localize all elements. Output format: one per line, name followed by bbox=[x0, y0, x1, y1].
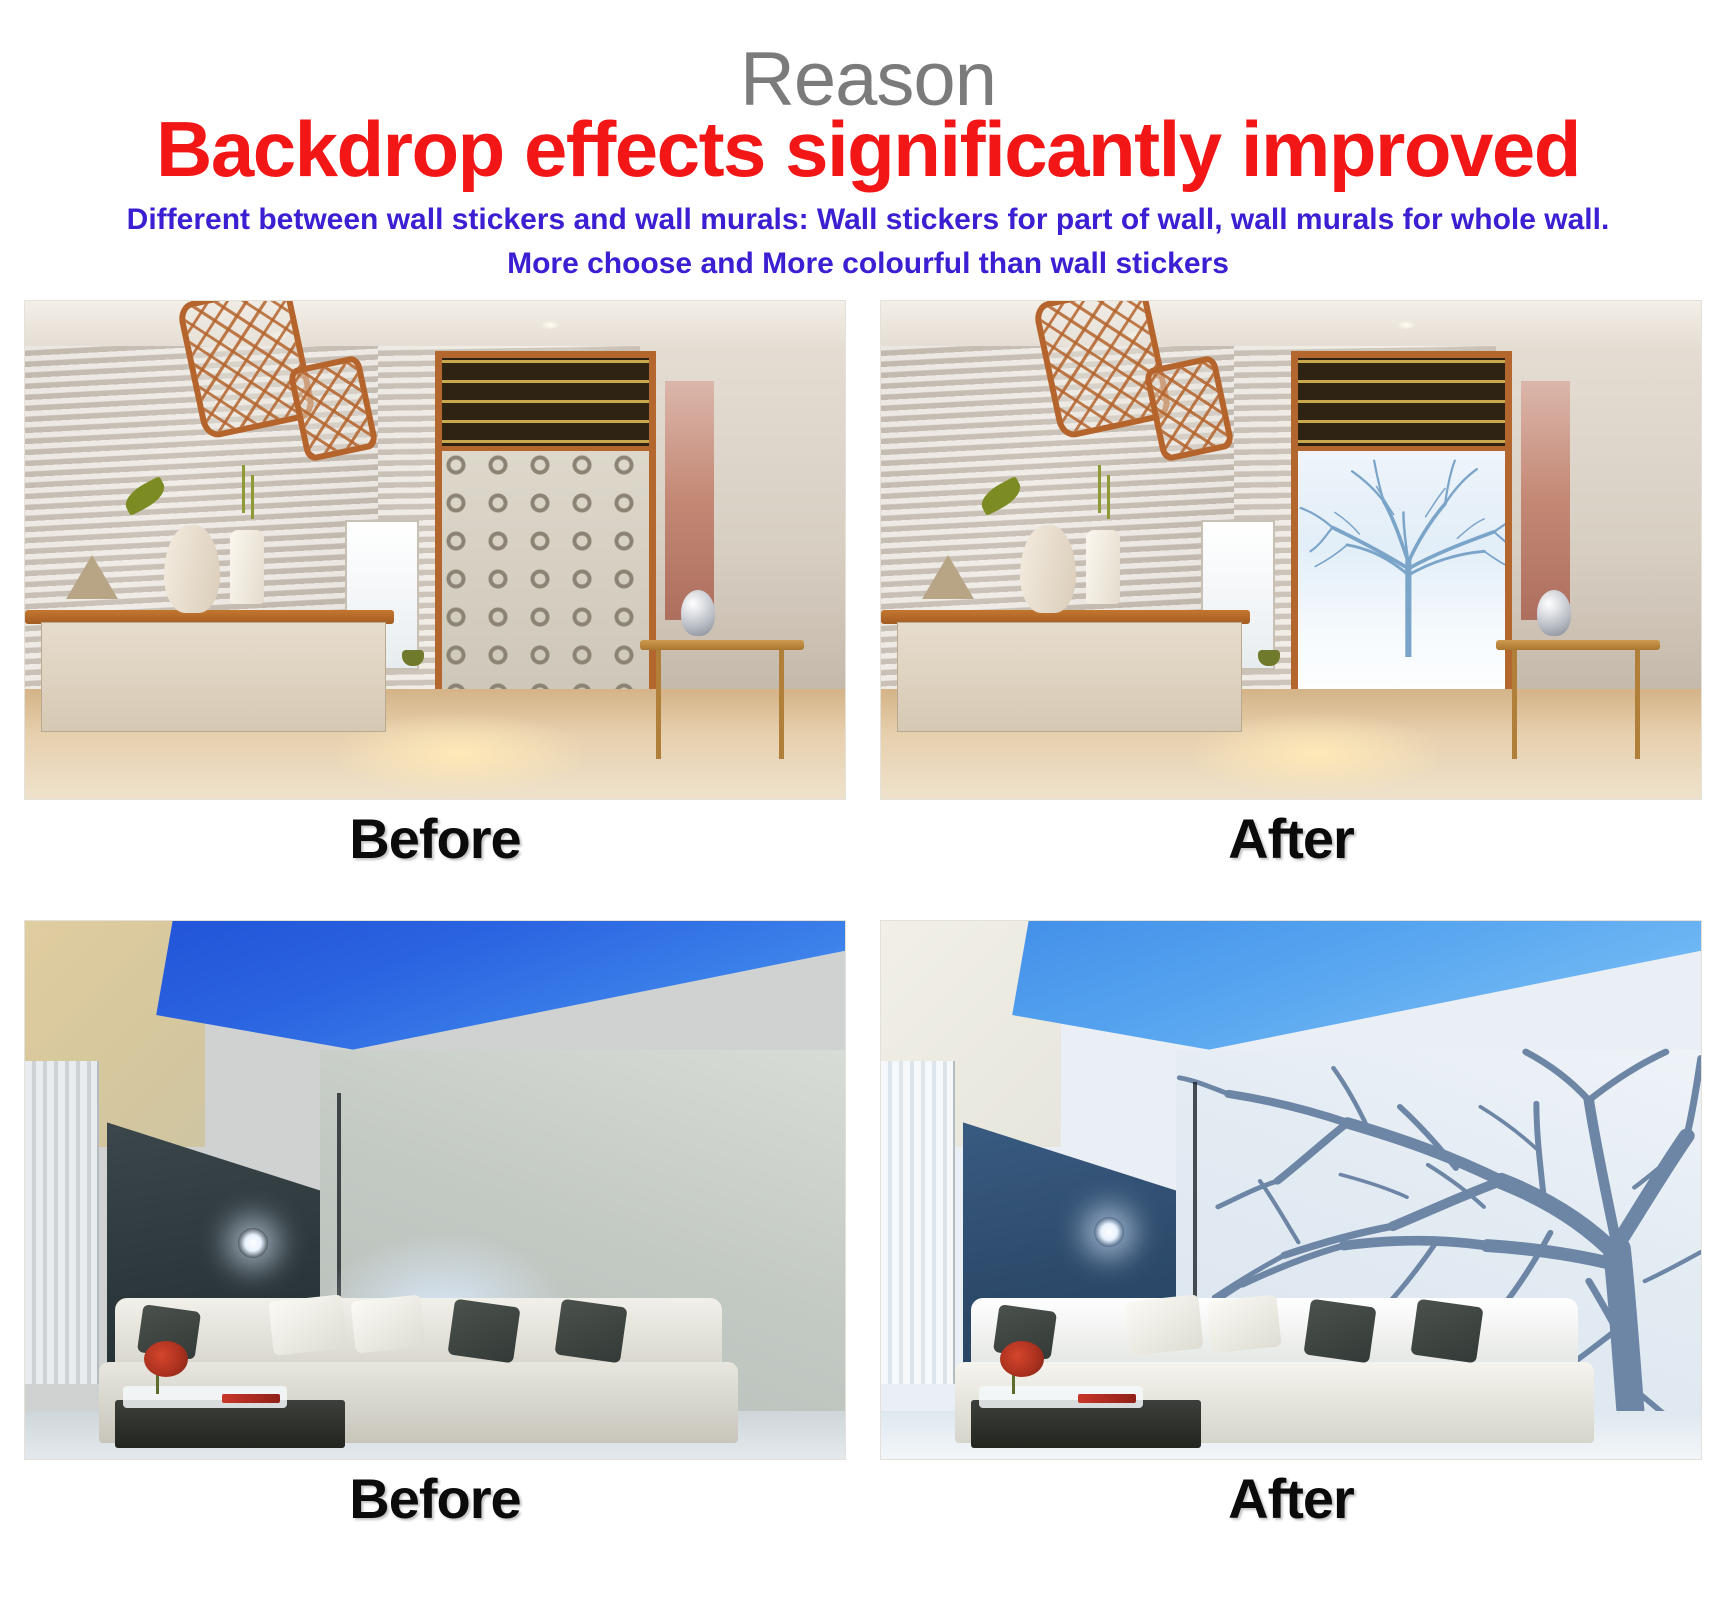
book-on-table bbox=[222, 1394, 280, 1403]
book-on-table bbox=[1078, 1394, 1136, 1403]
vase-small bbox=[230, 530, 264, 604]
living-room-before-photo bbox=[24, 920, 846, 1460]
sofa-cushion bbox=[350, 1294, 425, 1353]
decor-cone bbox=[922, 555, 974, 599]
living-room-after-cell: After bbox=[880, 920, 1702, 1531]
hallway-scene-before bbox=[25, 301, 845, 799]
living-room-scene-after bbox=[881, 921, 1701, 1459]
sofa-cushion bbox=[268, 1294, 347, 1355]
caption-before: Before bbox=[24, 1460, 846, 1531]
downlight-icon bbox=[1398, 321, 1414, 329]
sofa-cushion-dark bbox=[554, 1299, 627, 1364]
subtitle-line-2: More choose and More colourful than wall… bbox=[0, 242, 1736, 286]
doorway-wallpaper-panel bbox=[435, 351, 656, 710]
carved-header-grille bbox=[1298, 358, 1505, 451]
curtain bbox=[665, 381, 714, 620]
hallway-after-photo bbox=[880, 300, 1702, 800]
side-table-leg bbox=[656, 650, 661, 760]
hallway-after-cell: After bbox=[880, 300, 1702, 871]
ceiling-spotlight-icon bbox=[1094, 1217, 1124, 1247]
living-room-before-cell: Before bbox=[24, 920, 846, 1531]
curtain bbox=[1521, 381, 1570, 620]
comparison-grid: Before bbox=[0, 300, 1736, 1600]
side-table-leg bbox=[779, 650, 784, 760]
page-title: Backdrop effects significantly improved bbox=[0, 104, 1736, 195]
comparison-row-living-room: Before bbox=[0, 920, 1736, 1600]
living-room-scene-before bbox=[25, 921, 845, 1459]
vase-large bbox=[164, 525, 220, 613]
comparison-row-hallway: Before bbox=[0, 300, 1736, 860]
plant-stalk bbox=[251, 475, 254, 519]
plant-stalk bbox=[1098, 465, 1101, 513]
living-room-after-photo bbox=[880, 920, 1702, 1460]
flower-bouquet bbox=[144, 1341, 188, 1377]
ceiling bbox=[881, 301, 1701, 346]
caption-after: After bbox=[880, 1460, 1702, 1531]
ceiling-spotlight-icon bbox=[238, 1228, 268, 1258]
carved-header-grille bbox=[442, 358, 649, 451]
header-banner: Reason Backdrop effects significantly im… bbox=[0, 0, 1736, 300]
silver-vase bbox=[681, 590, 715, 636]
caption-after: After bbox=[880, 800, 1702, 871]
sofa-cushion-dark bbox=[1304, 1299, 1377, 1364]
flower-bouquet bbox=[1000, 1341, 1044, 1377]
downlight-icon bbox=[542, 321, 558, 329]
silver-vase bbox=[1537, 590, 1571, 636]
side-table-leg bbox=[1512, 650, 1517, 760]
side-table-top bbox=[640, 640, 804, 650]
sofa-cushion-dark bbox=[1410, 1299, 1483, 1364]
decor-cone bbox=[66, 555, 118, 599]
sofa-cushion bbox=[1206, 1294, 1281, 1353]
ceiling bbox=[25, 301, 845, 346]
plant-stalk bbox=[1107, 475, 1110, 519]
plant-stalk bbox=[242, 465, 245, 513]
doorway-mural-panel bbox=[1291, 351, 1512, 710]
hallway-before-photo bbox=[24, 300, 846, 800]
sofa-cushion bbox=[1124, 1294, 1203, 1355]
page-subtitle: Different between wall stickers and wall… bbox=[0, 198, 1736, 285]
tree-mural-icon bbox=[1298, 451, 1505, 657]
plant-pot bbox=[402, 650, 424, 666]
vase-large bbox=[1020, 525, 1076, 613]
caption-before: Before bbox=[24, 800, 846, 871]
console-table-body bbox=[41, 622, 385, 732]
radiator bbox=[25, 1061, 99, 1384]
blue-tree-wall-mural bbox=[1298, 451, 1505, 703]
sofa-cushion-dark bbox=[448, 1299, 521, 1364]
side-table-top bbox=[1496, 640, 1660, 650]
plant-pot bbox=[1258, 650, 1280, 666]
console-table-body bbox=[897, 622, 1241, 732]
hallway-before-cell: Before bbox=[24, 300, 846, 871]
side-table-leg bbox=[1635, 650, 1640, 760]
radiator bbox=[881, 1061, 955, 1384]
circle-pattern-wallpaper bbox=[442, 451, 649, 703]
hallway-scene-after bbox=[881, 301, 1701, 799]
subtitle-line-1: Different between wall stickers and wall… bbox=[127, 203, 1610, 236]
vase-small bbox=[1086, 530, 1120, 604]
